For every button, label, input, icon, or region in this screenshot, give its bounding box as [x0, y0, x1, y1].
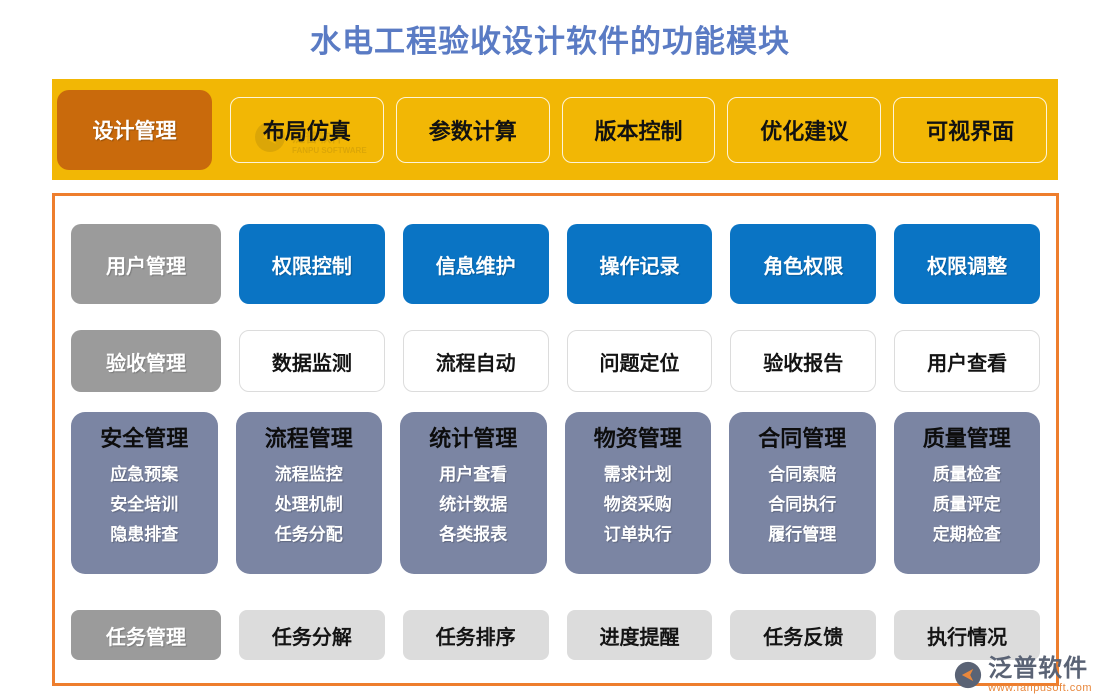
card-contract-management[interactable]: 合同管理 合同索赔 合同执行 履行管理: [729, 412, 876, 574]
card-title: 安全管理: [100, 424, 188, 454]
card-item[interactable]: 隐患排查: [110, 520, 178, 550]
card-item[interactable]: 质量评定: [933, 490, 1001, 520]
card-title: 流程管理: [265, 424, 353, 454]
tab-design-management[interactable]: 设计管理: [57, 90, 212, 170]
row-head-task-management[interactable]: 任务管理: [71, 610, 221, 660]
card-item[interactable]: 统计数据: [439, 490, 507, 520]
row-task-management: 任务管理 任务分解 任务排序 进度提醒 任务反馈 执行情况: [67, 597, 1044, 673]
tab-layout-simulation[interactable]: 布局仿真: [230, 97, 384, 163]
cell-permission-adjustment[interactable]: 权限调整: [894, 224, 1040, 304]
page-title: 水电工程验收设计软件的功能模块: [0, 22, 1100, 62]
cell-task-breakdown[interactable]: 任务分解: [239, 610, 385, 660]
row-user-management: 用户管理 权限控制 信息维护 操作记录 角色权限 权限调整: [67, 210, 1044, 318]
card-item[interactable]: 处理机制: [275, 490, 343, 520]
card-item[interactable]: 合同执行: [768, 490, 836, 520]
row-head-user-management[interactable]: 用户管理: [71, 224, 221, 304]
tab-label: 可视界面: [926, 114, 1014, 146]
row-acceptance-management: 验收管理 数据监测 流程自动 问题定位 验收报告 用户查看: [67, 318, 1044, 404]
top-module-tabbar: 泛普软件 FANPU SOFTWARE 设计管理 布局仿真 参数计算 版本控制 …: [52, 79, 1058, 180]
tab-label: 参数计算: [429, 114, 517, 146]
row-head-acceptance-management[interactable]: 验收管理: [71, 330, 221, 392]
cell-issue-locating[interactable]: 问题定位: [567, 330, 713, 392]
module-panel: 用户管理 权限控制 信息维护 操作记录 角色权限 权限调整 验收管理 数据监测 …: [52, 193, 1059, 686]
tab-optimization-advice[interactable]: 优化建议: [727, 97, 881, 163]
card-item[interactable]: 合同索赔: [768, 460, 836, 490]
brand-logo: 泛普软件 www.fanpusoft.com: [954, 656, 1092, 694]
cell-user-view[interactable]: 用户查看: [894, 330, 1040, 392]
card-item[interactable]: 安全培训: [110, 490, 178, 520]
brand-name: 泛普软件: [988, 657, 1092, 681]
card-item[interactable]: 订单执行: [604, 520, 672, 550]
card-item[interactable]: 物资采购: [604, 490, 672, 520]
card-item[interactable]: 任务分配: [275, 520, 343, 550]
fanpu-logo-icon: [954, 661, 982, 689]
row-module-cards: 安全管理 应急预案 安全培训 隐患排查 流程管理 流程监控 处理机制 任务分配 …: [67, 404, 1044, 597]
cell-role-permission[interactable]: 角色权限: [730, 224, 876, 304]
card-item[interactable]: 履行管理: [768, 520, 836, 550]
cell-task-ordering[interactable]: 任务排序: [403, 610, 549, 660]
cell-task-feedback[interactable]: 任务反馈: [730, 610, 876, 660]
tab-version-control[interactable]: 版本控制: [562, 97, 716, 163]
tab-visual-interface[interactable]: 可视界面: [893, 97, 1047, 163]
tab-parameter-calculation[interactable]: 参数计算: [396, 97, 550, 163]
cell-data-monitoring[interactable]: 数据监测: [239, 330, 385, 392]
cell-process-automation[interactable]: 流程自动: [403, 330, 549, 392]
cell-operation-log[interactable]: 操作记录: [567, 224, 713, 304]
card-quality-management[interactable]: 质量管理 质量检查 质量评定 定期检查: [894, 412, 1041, 574]
tab-label: 优化建议: [760, 114, 848, 146]
card-item[interactable]: 质量检查: [933, 460, 1001, 490]
card-item[interactable]: 应急预案: [110, 460, 178, 490]
card-process-management[interactable]: 流程管理 流程监控 处理机制 任务分配: [236, 412, 383, 574]
card-title: 统计管理: [429, 424, 517, 454]
card-statistics-management[interactable]: 统计管理 用户查看 统计数据 各类报表: [400, 412, 547, 574]
card-title: 物资管理: [594, 424, 682, 454]
tab-label: 布局仿真: [263, 114, 351, 146]
cell-information-maintenance[interactable]: 信息维护: [403, 224, 549, 304]
card-item[interactable]: 各类报表: [439, 520, 507, 550]
card-title: 质量管理: [923, 424, 1011, 454]
cell-acceptance-report[interactable]: 验收报告: [730, 330, 876, 392]
card-item[interactable]: 流程监控: [275, 460, 343, 490]
cell-progress-reminder[interactable]: 进度提醒: [567, 610, 713, 660]
card-item[interactable]: 定期检查: [933, 520, 1001, 550]
card-title: 合同管理: [758, 424, 846, 454]
cell-execution-status[interactable]: 执行情况: [894, 610, 1040, 660]
tab-label: 版本控制: [594, 114, 682, 146]
card-item[interactable]: 需求计划: [604, 460, 672, 490]
tab-label: 设计管理: [93, 115, 177, 145]
brand-url: www.fanpusoft.com: [988, 683, 1092, 694]
cell-permission-control[interactable]: 权限控制: [239, 224, 385, 304]
card-material-management[interactable]: 物资管理 需求计划 物资采购 订单执行: [565, 412, 712, 574]
card-safety-management[interactable]: 安全管理 应急预案 安全培训 隐患排查: [71, 412, 218, 574]
card-item[interactable]: 用户查看: [439, 460, 507, 490]
